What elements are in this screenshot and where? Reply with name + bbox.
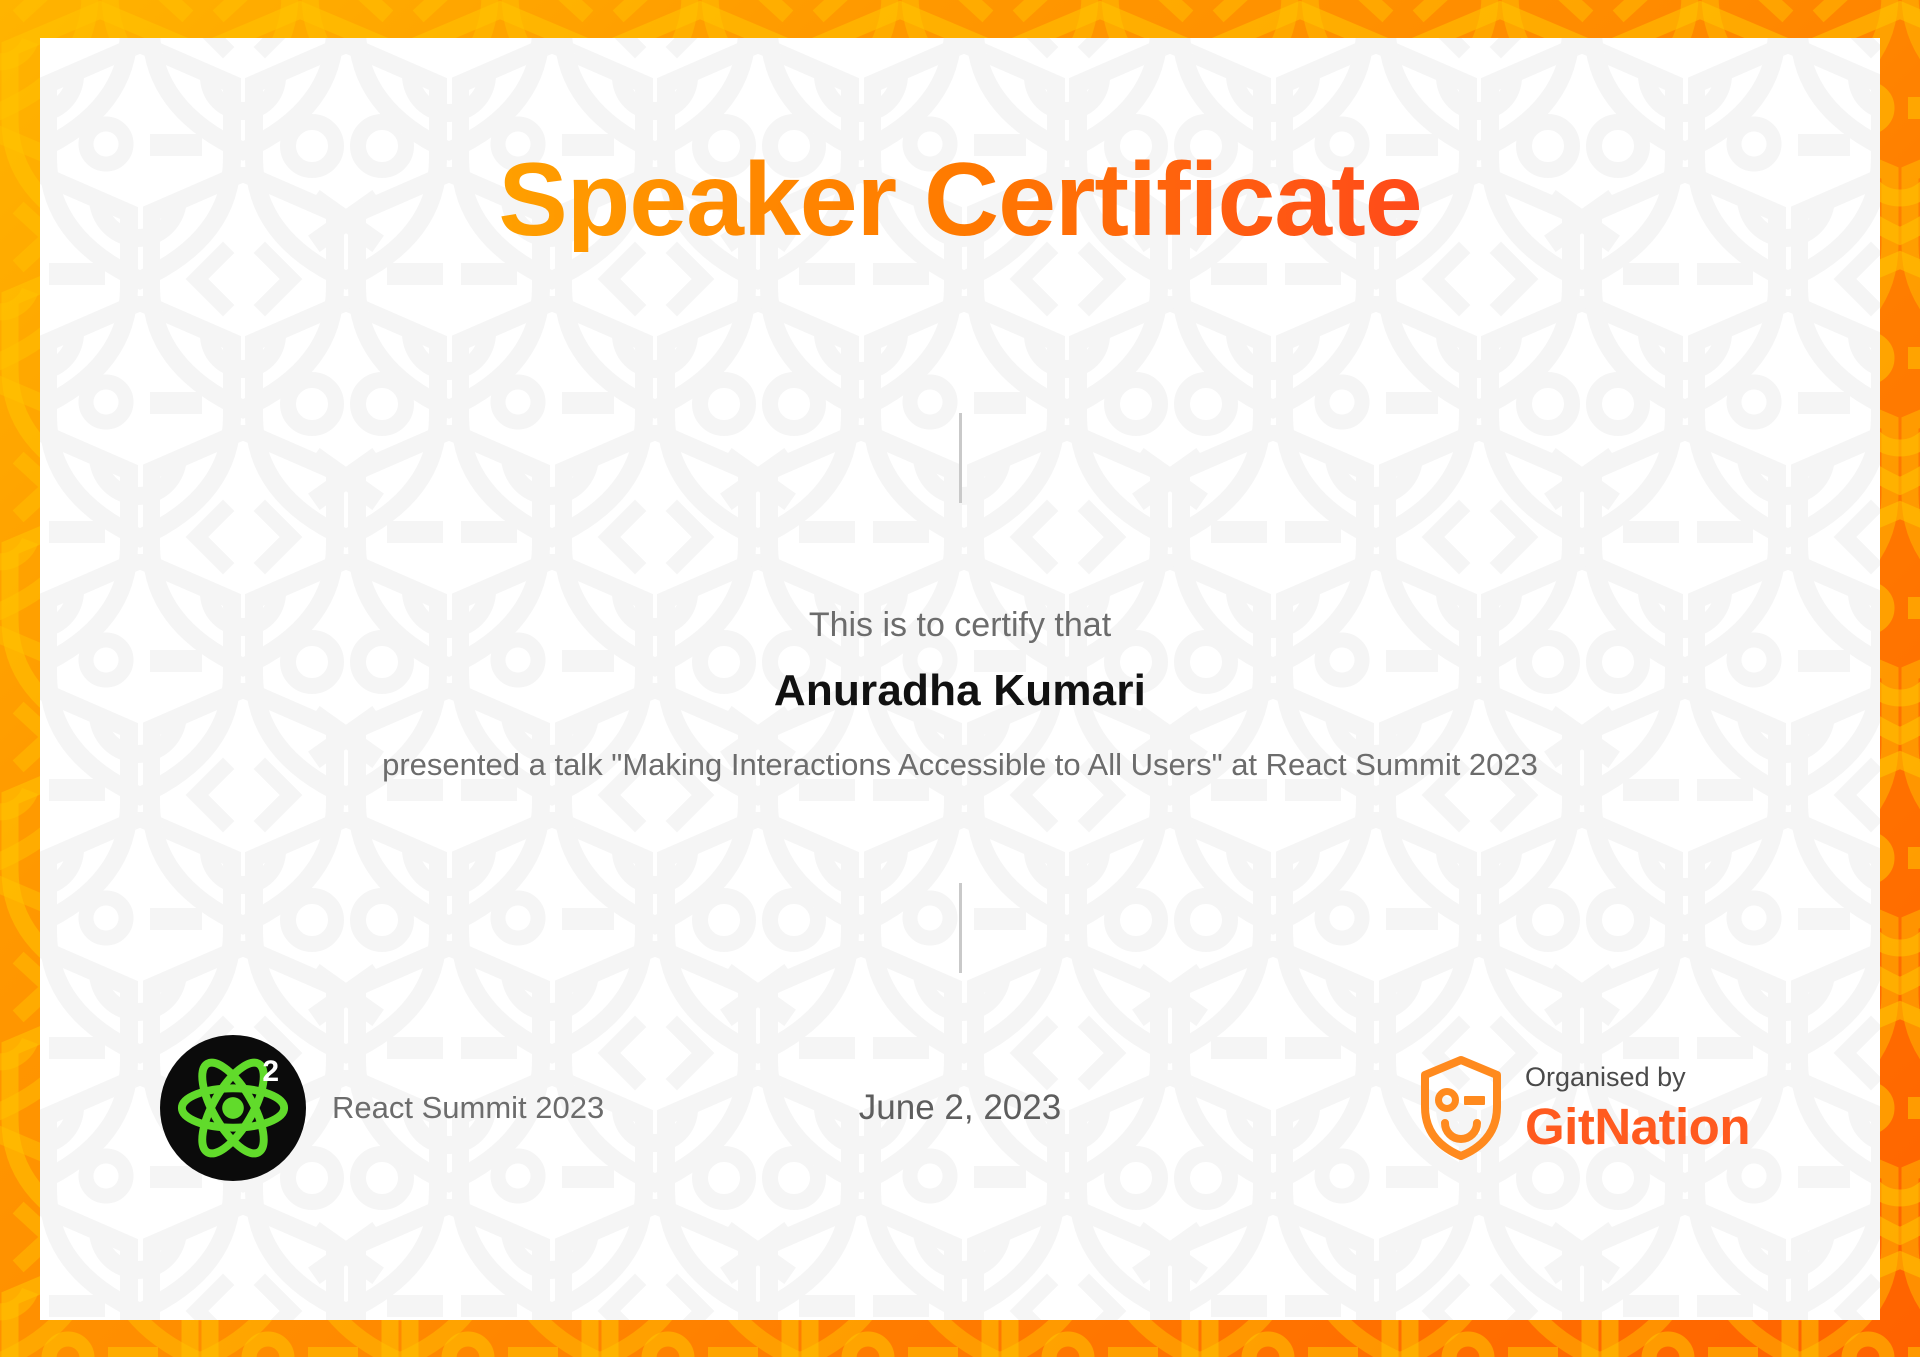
- event-branding: 2 React Summit 2023: [160, 1035, 604, 1181]
- gitnation-shield-face-icon: [1419, 1055, 1503, 1161]
- certify-line: This is to certify that: [40, 606, 1880, 645]
- speaker-certificate: Speaker Certificate This is to certify t…: [0, 0, 1920, 1357]
- organiser-branding: Organised by GitNation: [1419, 1055, 1750, 1161]
- organiser-name: GitNation: [1525, 1101, 1750, 1152]
- event-label: React Summit 2023: [332, 1090, 604, 1126]
- page-title: Speaker Certificate: [498, 148, 1421, 252]
- react-summit-badge: 2: [160, 1035, 306, 1181]
- talk-description: presented a talk "Making Interactions Ac…: [245, 744, 1675, 786]
- divider-bottom: [959, 883, 962, 973]
- recipient-name: Anuradha Kumari: [40, 666, 1880, 716]
- certificate-card: Speaker Certificate This is to certify t…: [40, 38, 1880, 1320]
- divider-top: [959, 413, 962, 503]
- certificate-footer: 2 React Summit 2023 June 2, 2023 Org: [40, 1018, 1880, 1198]
- organised-by-label: Organised by: [1525, 1064, 1750, 1091]
- issue-date: June 2, 2023: [859, 1088, 1061, 1128]
- badge-superscript: 2: [262, 1057, 279, 1087]
